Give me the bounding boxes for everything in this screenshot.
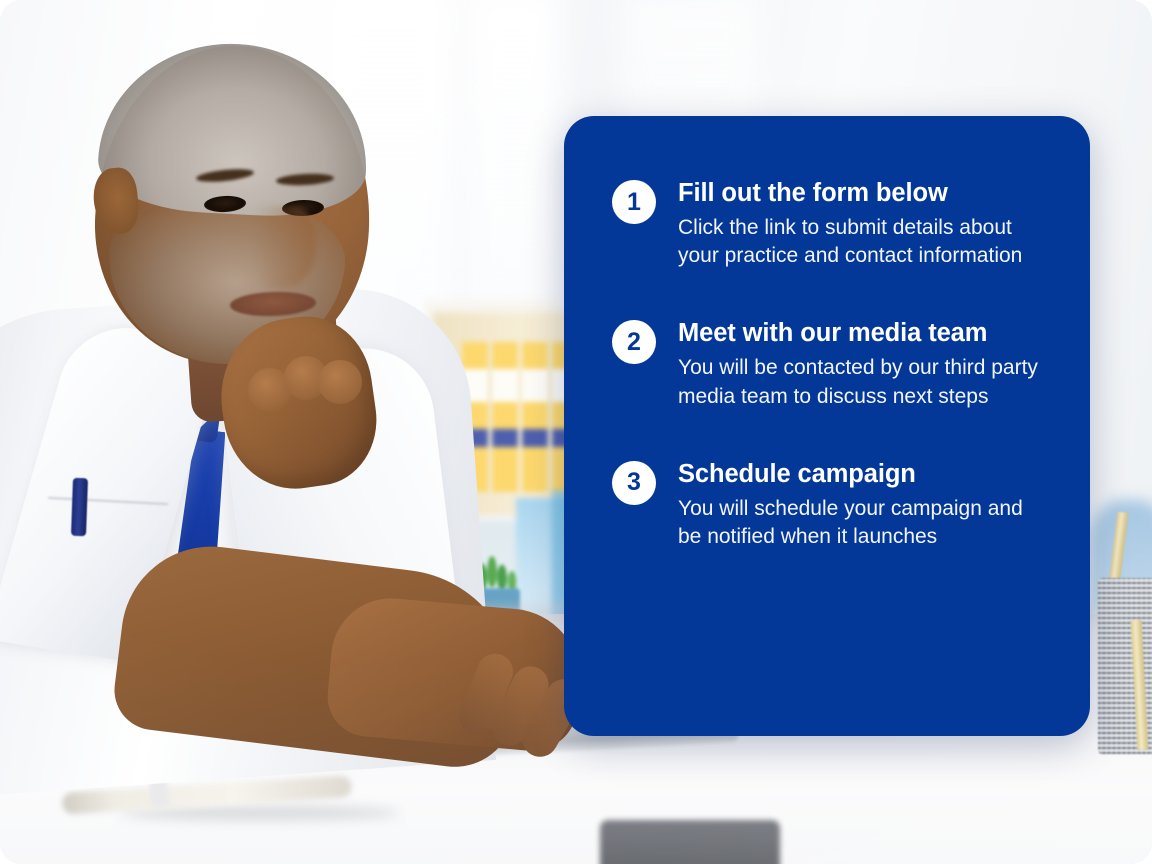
step-description-3: You will schedule your campaign and be n…	[678, 495, 1038, 551]
step-item-1: 1 Fill out the form below Click the link…	[612, 178, 1046, 270]
step-description-1: Click the link to submit details about y…	[678, 214, 1038, 270]
steps-card: 1 Fill out the form below Click the link…	[564, 116, 1090, 736]
step-title-2: Meet with our media team	[678, 318, 1046, 348]
step-number-badge-2: 2	[612, 320, 656, 364]
step-title-1: Fill out the form below	[678, 178, 1046, 208]
screenshot-canvas: 1 Fill out the form below Click the link…	[0, 0, 1152, 864]
nose	[254, 206, 316, 288]
step-number-badge-3: 3	[612, 461, 656, 505]
step-item-2: 2 Meet with our media team You will be c…	[612, 318, 1046, 410]
knuckle	[318, 360, 362, 404]
step-number-badge-1: 1	[612, 180, 656, 224]
pocket-pen	[71, 478, 88, 536]
step-title-3: Schedule campaign	[678, 459, 1046, 489]
smartphone	[600, 820, 780, 864]
step-description-2: You will be contacted by our third party…	[678, 354, 1038, 410]
step-item-3: 3 Schedule campaign You will schedule yo…	[612, 459, 1046, 551]
doctor-figure	[0, 0, 620, 864]
